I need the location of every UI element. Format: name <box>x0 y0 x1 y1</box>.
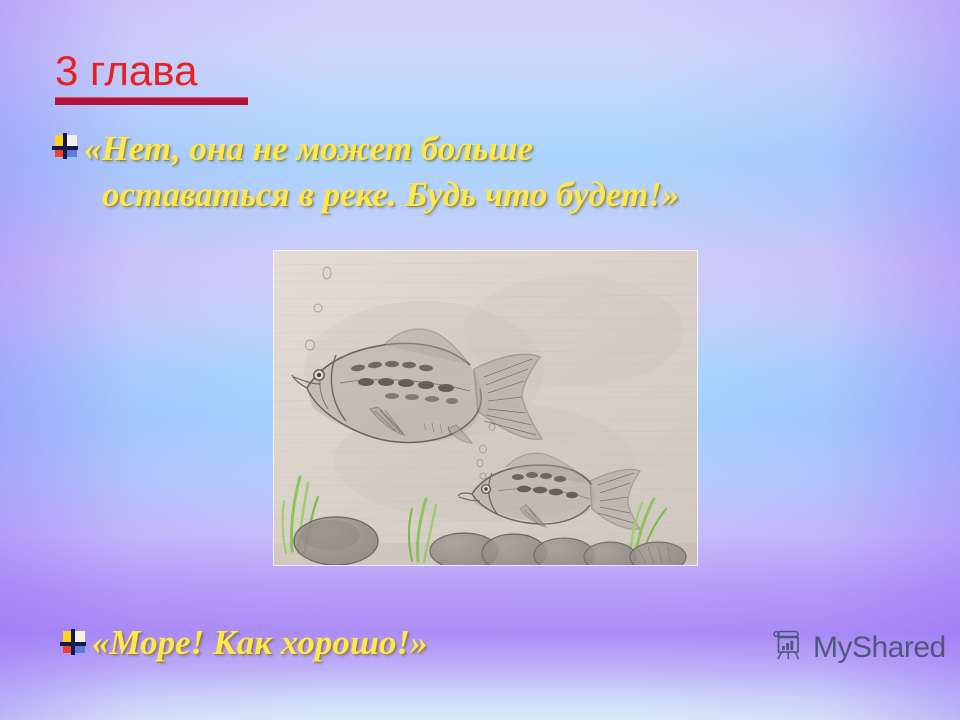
colored-squares-cross-bullet-icon <box>60 629 86 655</box>
quote-text-bottom: «Море! Как хорошо!» <box>88 622 428 664</box>
page-title: 3 глава <box>55 48 575 94</box>
quote-top-line-2: оставаться в реке. Будь что будет!» <box>84 172 679 218</box>
bullet-square-white <box>74 631 85 642</box>
colored-squares-cross-bullet-icon <box>52 133 78 159</box>
pencil-drawing-two-fish-underwater <box>274 251 697 565</box>
slide-canvas: 3 глава «Нет, она не может больше остава… <box>0 0 960 720</box>
bullet-square-white <box>66 135 77 146</box>
presentation-board-chart-icon <box>772 628 806 667</box>
drawing-svg <box>274 251 697 565</box>
bullet-cross-horizontal <box>52 146 78 150</box>
quote-block-bottom: «Море! Как хорошо!» <box>60 622 760 664</box>
title-underline <box>55 97 248 105</box>
myshared-watermark: MyShared <box>772 628 946 667</box>
bullet-cross-horizontal <box>60 642 86 646</box>
quote-top-line-1: «Нет, она не может больше <box>84 129 533 168</box>
title-block: 3 глава <box>55 48 575 105</box>
quote-text-top: «Нет, она не может больше оставаться в р… <box>80 126 679 218</box>
myshared-watermark-text: MyShared <box>813 633 946 663</box>
quote-block-top: «Нет, она не может больше оставаться в р… <box>52 126 932 218</box>
